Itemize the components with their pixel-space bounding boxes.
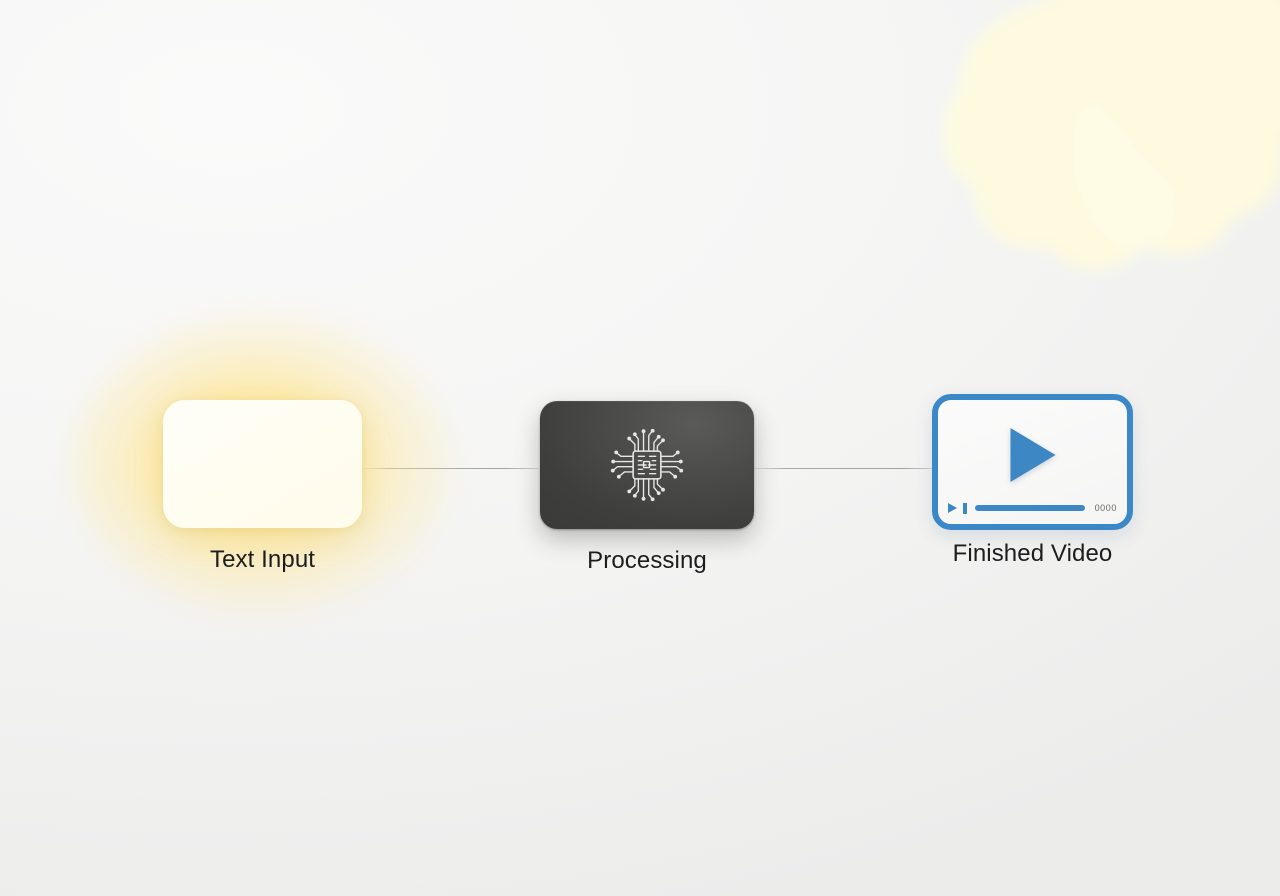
node-text-input[interactable]: Text Input	[163, 400, 362, 528]
node-finished-video[interactable]: 0000 Finished Video	[932, 394, 1133, 530]
video-controls-bar[interactable]: 0000	[948, 501, 1117, 515]
node-label-finished-video: Finished Video	[953, 540, 1113, 568]
connector-input-to-processing	[358, 468, 538, 469]
node-label-processing: Processing	[587, 547, 707, 575]
text-input-card-icon[interactable]	[163, 400, 362, 528]
timestamp-label: 0000	[1095, 503, 1117, 513]
play-triangle-icon[interactable]	[1010, 428, 1055, 482]
processing-card[interactable]	[540, 401, 754, 529]
progress-bar[interactable]	[975, 505, 1085, 511]
pause-icon[interactable]	[963, 503, 967, 514]
node-label-text-input: Text Input	[210, 546, 315, 574]
connector-processing-to-video	[752, 468, 936, 469]
play-icon[interactable]	[948, 503, 957, 513]
cpu-chip-icon	[595, 413, 699, 517]
yellow-cloud-icon	[930, 0, 1280, 310]
diagram-canvas: Text Input	[0, 0, 1280, 896]
video-player-card[interactable]: 0000	[932, 394, 1133, 530]
node-processing[interactable]: Processing	[540, 401, 754, 529]
